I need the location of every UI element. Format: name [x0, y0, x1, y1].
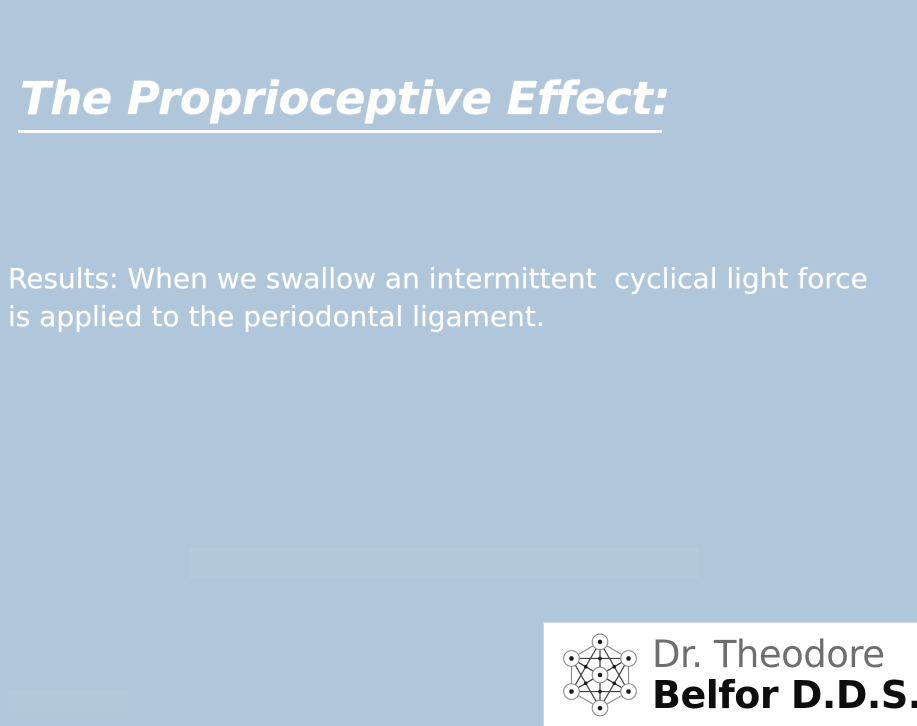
logo-name-line: Dr. Theodore: [652, 636, 917, 673]
page-title: The Proprioceptive Effect:: [20, 70, 680, 128]
presenter-logo-plate: Dr. Theodore Belfor D.D.S.: [543, 622, 917, 726]
logo-credentials-line: Belfor D.D.S.: [652, 676, 917, 714]
presentation-slide: The Proprioceptive Effect: Results: When…: [0, 0, 917, 726]
background-artifact-band: [190, 548, 698, 578]
slide-body-text: Results: When we swallow an intermittent…: [8, 260, 888, 336]
title-underline-rule: [18, 130, 662, 133]
logo-wordmark: Dr. Theodore Belfor D.D.S.: [652, 636, 917, 714]
background-artifact-corner: [8, 690, 128, 712]
metatrons-cube-icon: [554, 629, 646, 721]
